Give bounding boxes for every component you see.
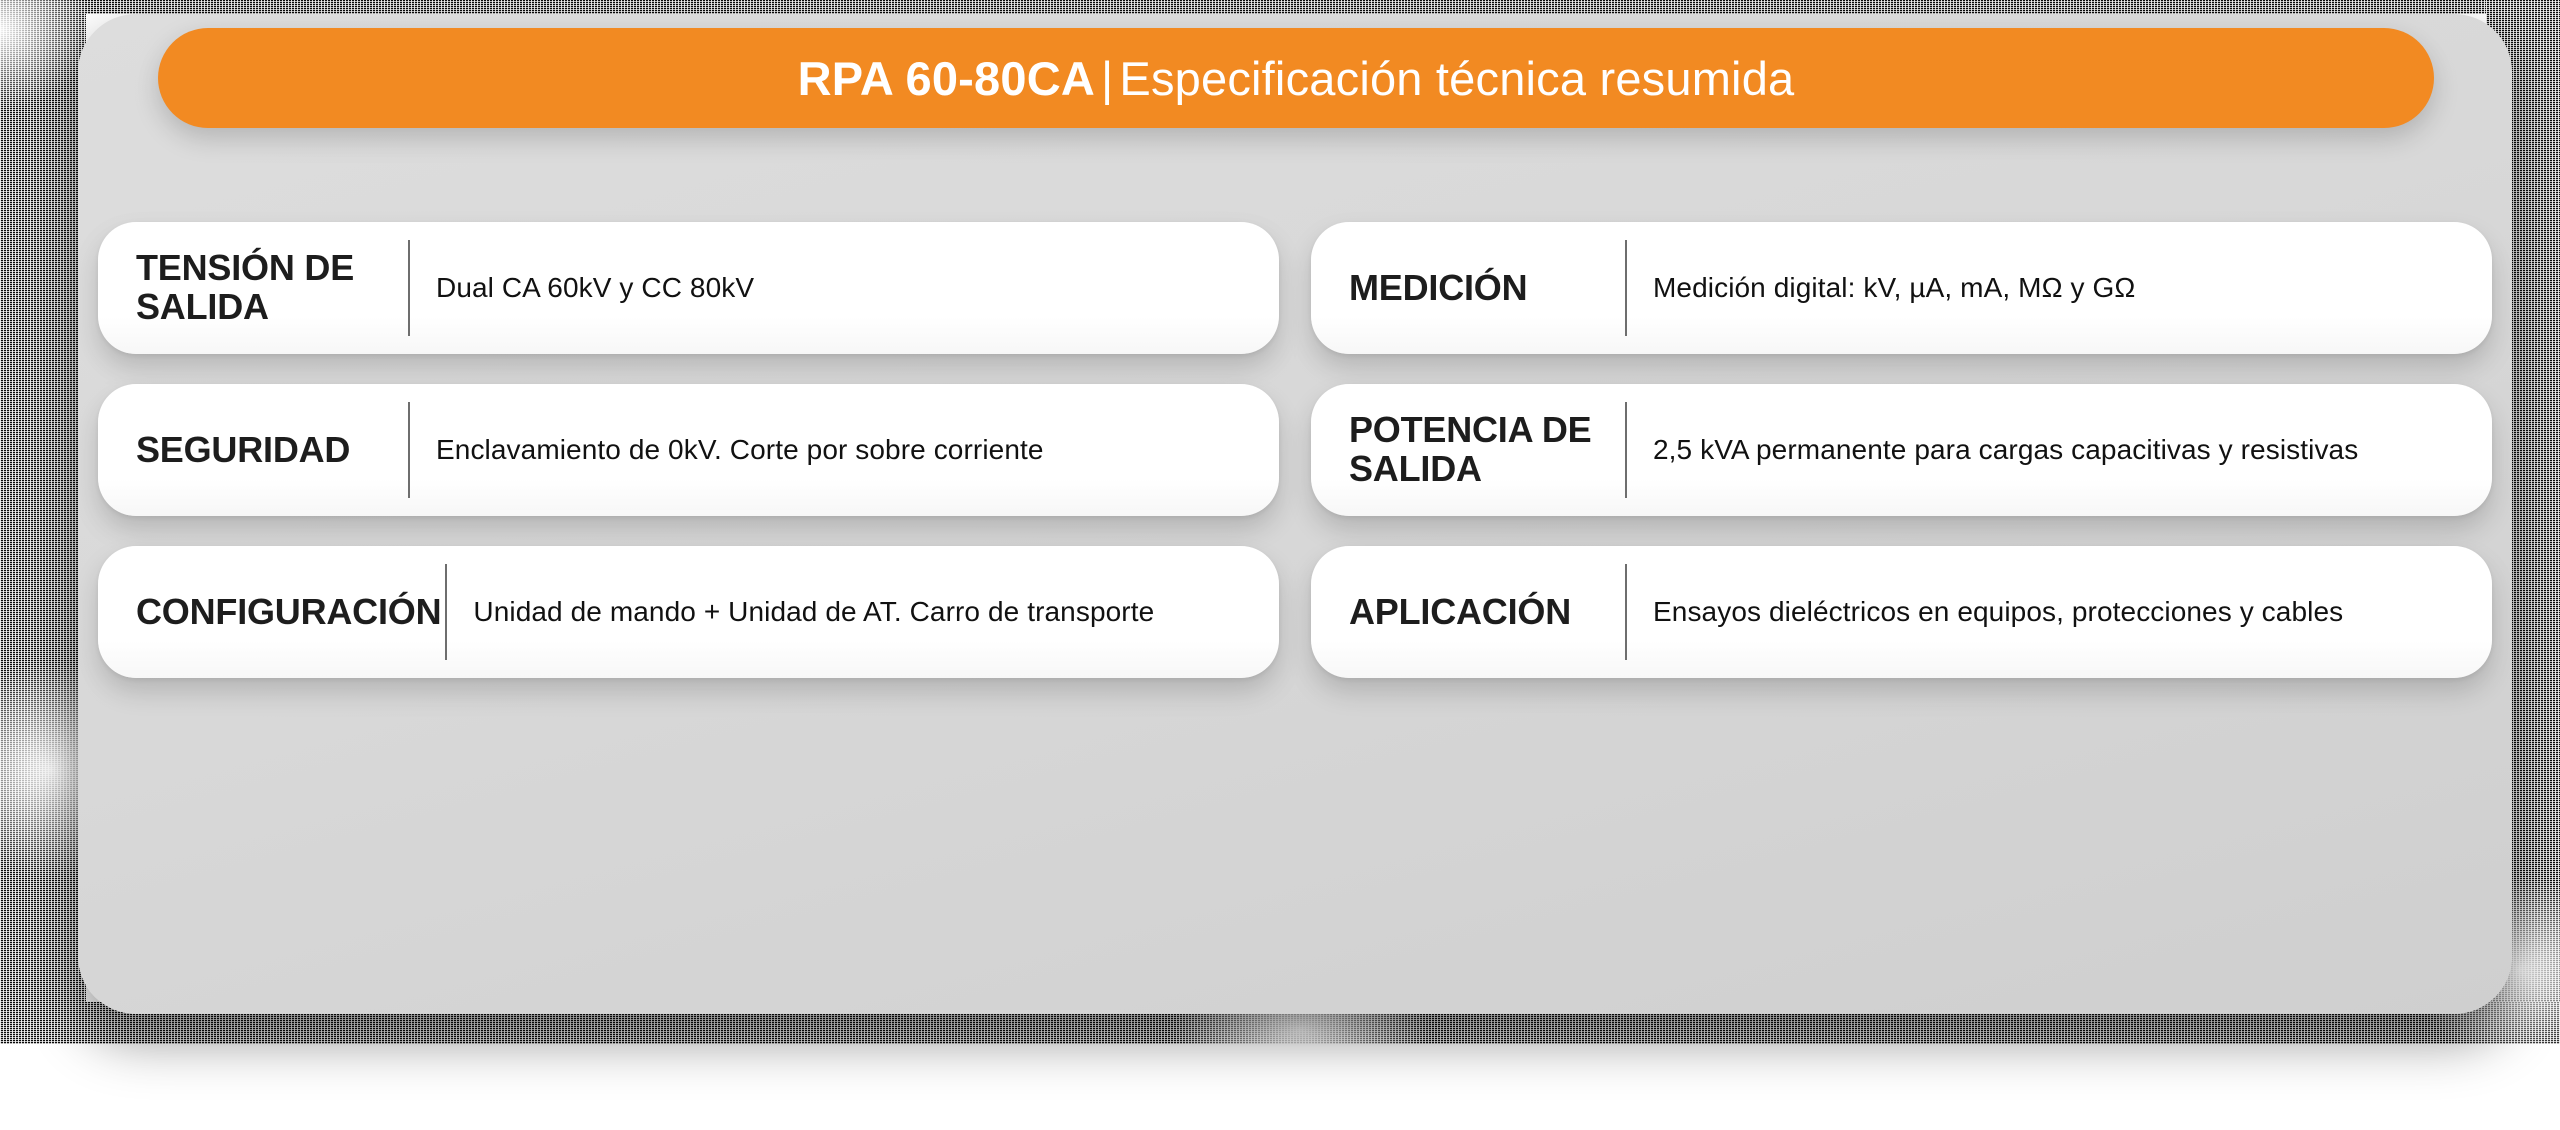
spec-card-seguridad: SEGURIDAD Enclavamiento de 0kV. Corte po… [98,384,1279,516]
spec-divider [1625,564,1627,660]
spec-value: Dual CA 60kV y CC 80kV [436,272,1245,304]
spec-label: TENSIÓN DE SALIDA [136,249,404,327]
spec-label: CONFIGURACIÓN [136,593,441,632]
spec-card-medicion: MEDICIÓN Medición digital: kV, µA, mA, M… [1311,222,2492,354]
spec-card-grid: TENSIÓN DE SALIDA Dual CA 60kV y CC 80kV… [98,222,2492,678]
spec-divider [1625,240,1627,336]
spec-value: Enclavamiento de 0kV. Corte por sobre co… [436,434,1245,466]
spec-card-configuracion: CONFIGURACIÓN Unidad de mando + Unidad d… [98,546,1279,678]
page-title: RPA 60-80CA|Especificación técnica resum… [798,55,1795,102]
spec-card-tension-de-salida: TENSIÓN DE SALIDA Dual CA 60kV y CC 80kV [98,222,1279,354]
spec-value: 2,5 kVA permanente para cargas capacitiv… [1653,434,2458,466]
spec-value: Ensayos dieléctricos en equipos, protecc… [1653,596,2458,628]
spec-card-aplicacion: APLICACIÓN Ensayos dieléctricos en equip… [1311,546,2492,678]
spec-label: POTENCIA DE SALIDA [1349,411,1621,489]
spec-divider [1625,402,1627,498]
header-banner: RPA 60-80CA|Especificación técnica resum… [158,28,2434,128]
spec-label: MEDICIÓN [1349,269,1621,308]
spec-label: APLICACIÓN [1349,593,1621,632]
spec-value: Unidad de mando + Unidad de AT. Carro de… [473,596,1245,628]
noise-edge-left [0,0,86,1044]
spec-value: Medición digital: kV, µA, mA, MΩ y GΩ [1653,272,2458,304]
spec-label: SEGURIDAD [136,431,404,470]
spec-sheet-panel: RPA 60-80CA|Especificación técnica resum… [78,14,2512,1014]
spec-card-potencia-de-salida: POTENCIA DE SALIDA 2,5 kVA permanente pa… [1311,384,2492,516]
spec-divider [445,564,447,660]
page-title-model: RPA 60-80CA [798,52,1095,105]
spec-divider [408,402,410,498]
noise-edge-top [0,0,2560,14]
spec-divider [408,240,410,336]
page-title-subtitle: Especificación técnica resumida [1119,52,1794,105]
page-title-separator: | [1095,52,1119,105]
